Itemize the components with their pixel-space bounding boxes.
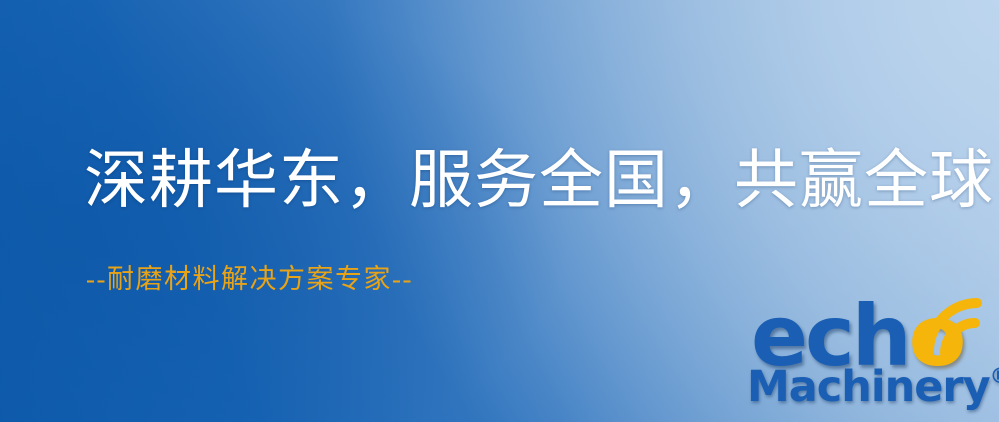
hero-banner: 深耕华东，服务全国，共赢全球 --耐磨材料解决方案专家-- echo Machi… [0,0,999,422]
banner-subtitle: --耐磨材料解决方案专家-- [86,266,413,293]
logo-brand-text: Machinery [747,362,990,412]
echo-machinery-logo: echo Machinery® [745,298,995,422]
logo-brand-line: Machinery® [747,366,999,409]
banner-headline: 深耕华东，服务全国，共赢全球 [84,149,994,213]
echo-signal-arcs-icon [921,295,993,361]
registered-trademark-icon: ® [990,364,999,388]
